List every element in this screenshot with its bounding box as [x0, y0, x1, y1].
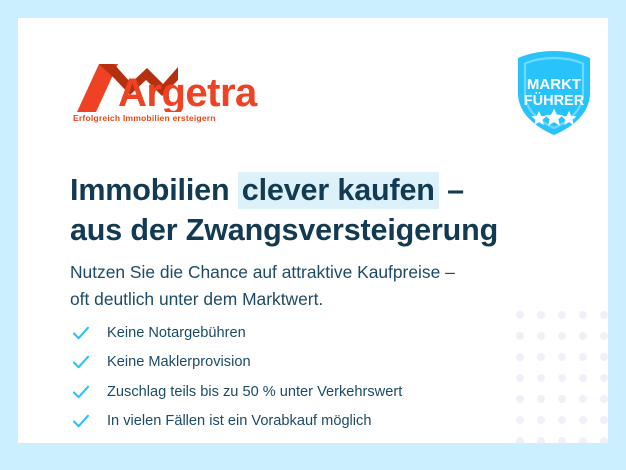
grid-dot	[558, 416, 566, 424]
check-icon	[71, 411, 91, 431]
check-icon	[71, 352, 91, 372]
grid-dot	[558, 437, 566, 443]
headline-highlight: clever kaufen	[238, 172, 439, 209]
grid-dot	[600, 332, 608, 340]
headline-line2: aus der Zwangsversteigerung	[70, 211, 498, 251]
grid-dot	[516, 395, 524, 403]
grid-dot	[516, 416, 524, 424]
grid-dot	[579, 353, 587, 361]
promo-banner: Argetra Erfolgreich Immobilien ersteiger…	[0, 0, 626, 470]
list-item-label: In vielen Fällen ist ein Vorabkauf mögli…	[107, 413, 371, 429]
list-item-label: Zuschlag teils bis zu 50 % unter Verkehr…	[107, 384, 402, 400]
grid-dot	[579, 395, 587, 403]
grid-dot	[579, 437, 587, 443]
list-item: Keine Notargebühren	[71, 318, 402, 348]
grid-dot	[600, 395, 608, 403]
check-icon	[71, 323, 91, 343]
list-item: Keine Maklerprovision	[71, 348, 402, 378]
grid-dot	[537, 374, 545, 382]
badge-line2: FÜHRER	[524, 92, 585, 109]
headline-line1: Immobilien clever kaufen –	[70, 172, 464, 209]
list-item: In vielen Fällen ist ein Vorabkauf mögli…	[71, 407, 402, 437]
list-item-label: Keine Notargebühren	[107, 325, 246, 341]
roof-slash-logo-icon: Argetra	[70, 60, 260, 112]
subheading: Nutzen Sie die Chance auf attraktive Kau…	[70, 259, 455, 312]
grid-dot	[579, 416, 587, 424]
list-item-label: Keine Maklerprovision	[107, 354, 251, 370]
grid-dot	[537, 311, 545, 319]
grid-dot	[516, 374, 524, 382]
page-title: Immobilien clever kaufen – aus der Zwang…	[70, 171, 498, 250]
grid-dot	[516, 437, 524, 443]
grid-dot	[558, 311, 566, 319]
grid-dot	[537, 395, 545, 403]
benefit-list: Keine Notargebühren Keine Maklerprovisio…	[71, 318, 402, 436]
grid-dot	[558, 374, 566, 382]
grid-dot	[516, 353, 524, 361]
grid-dot	[600, 437, 608, 443]
badge-line1: MARKT	[527, 76, 581, 93]
grid-dot	[579, 332, 587, 340]
logo-tagline: Erfolgreich Immobilien ersteigern	[73, 113, 260, 123]
argetra-logo[interactable]: Argetra Erfolgreich Immobilien ersteiger…	[70, 60, 260, 123]
headline-dash: –	[447, 173, 464, 207]
grid-dot	[537, 353, 545, 361]
banner-card: Argetra Erfolgreich Immobilien ersteiger…	[18, 18, 608, 443]
grid-dot	[579, 374, 587, 382]
grid-dot	[600, 416, 608, 424]
grid-dot	[579, 311, 587, 319]
grid-dot	[516, 311, 524, 319]
subheading-line1: Nutzen Sie die Chance auf attraktive Kau…	[70, 259, 455, 285]
grid-dot	[558, 332, 566, 340]
grid-dot	[516, 332, 524, 340]
grid-dot	[537, 332, 545, 340]
grid-dot	[558, 353, 566, 361]
headline-part-plain: Immobilien	[70, 173, 229, 207]
grid-dot	[600, 374, 608, 382]
shield-badge-icon: MARKT FÜHRER	[507, 49, 601, 137]
market-leader-badge: MARKT FÜHRER	[507, 49, 601, 137]
grid-dot	[558, 395, 566, 403]
grid-dot	[537, 416, 545, 424]
subheading-line2: oft deutlich unter dem Marktwert.	[70, 286, 455, 312]
grid-dot	[537, 437, 545, 443]
grid-dot	[600, 311, 608, 319]
check-icon	[71, 382, 91, 402]
dot-grid-decoration	[516, 311, 608, 443]
svg-text:Argetra: Argetra	[118, 71, 258, 112]
logo-mark: Argetra	[70, 60, 260, 112]
list-item: Zuschlag teils bis zu 50 % unter Verkehr…	[71, 377, 402, 407]
grid-dot	[600, 353, 608, 361]
